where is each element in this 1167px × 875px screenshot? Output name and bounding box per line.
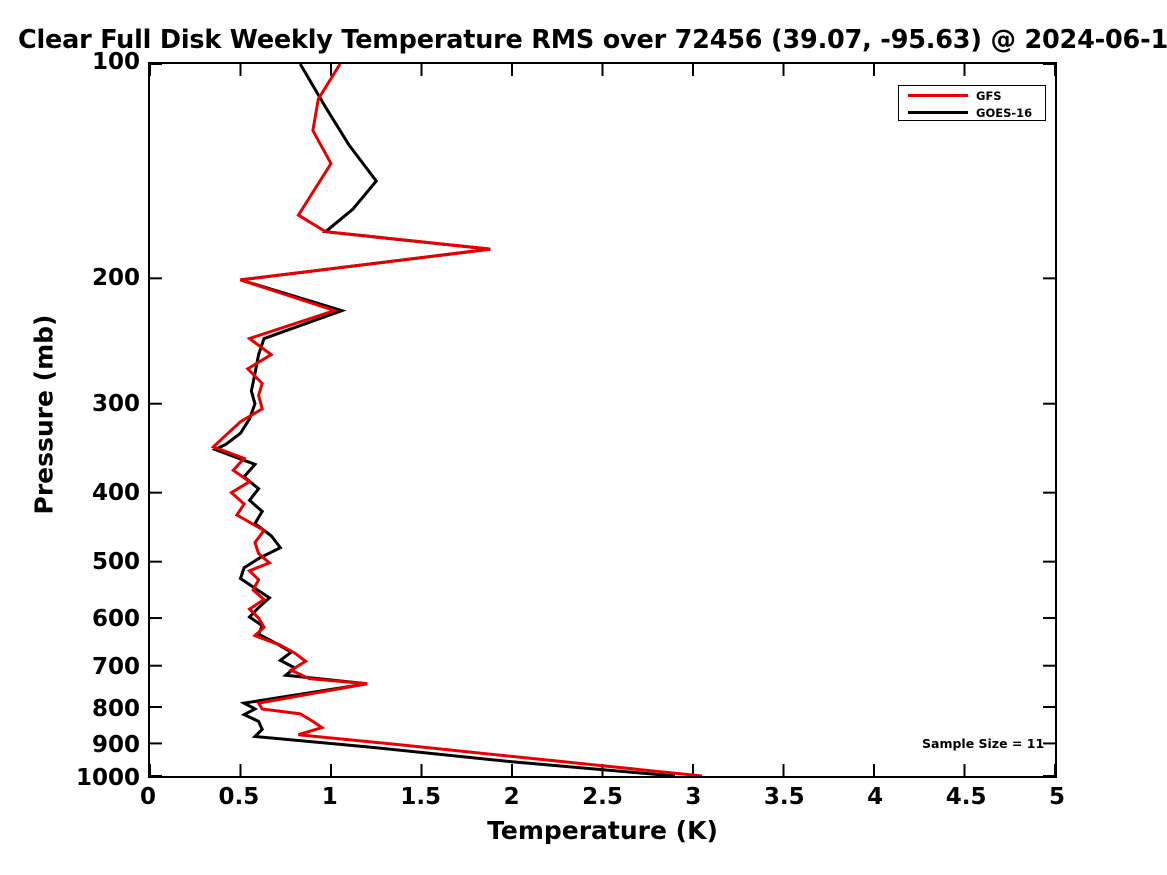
x-tick-label: 0 xyxy=(140,784,156,810)
legend-label: GFS xyxy=(976,89,1002,103)
x-axis-tick-labels: 00.511.522.533.544.55 xyxy=(148,784,1057,816)
y-tick-label: 600 xyxy=(92,606,140,632)
x-tick-label: 4 xyxy=(867,784,883,810)
data-series-lines xyxy=(213,64,702,776)
y-axis-tick-labels: 1002003004005006007008009001000 xyxy=(0,62,140,778)
legend-item: GOES-16 xyxy=(899,104,1045,121)
y-tick-label: 1000 xyxy=(76,765,140,791)
y-tick-label: 700 xyxy=(92,654,140,680)
x-axis-label: Temperature (K) xyxy=(148,816,1057,845)
y-axis-label: Pressure (mb) xyxy=(30,285,59,545)
chart-legend: GFSGOES-16 xyxy=(898,85,1046,121)
x-tick-label: 2 xyxy=(504,784,520,810)
axis-tick-marks xyxy=(150,64,1055,776)
y-tick-label: 400 xyxy=(92,480,140,506)
y-tick-label: 500 xyxy=(92,549,140,575)
chart-figure: Clear Full Disk Weekly Temperature RMS o… xyxy=(0,0,1167,875)
y-tick-label: 100 xyxy=(92,49,140,75)
y-tick-label: 300 xyxy=(92,391,140,417)
y-tick-label: 200 xyxy=(92,265,140,291)
x-tick-label: 1.5 xyxy=(400,784,441,810)
series-line-gfs xyxy=(213,64,702,776)
plot-svg xyxy=(150,64,1055,776)
sample-size-annotation: Sample Size = 11 xyxy=(922,736,1044,751)
plot-area xyxy=(148,62,1057,778)
chart-title: Clear Full Disk Weekly Temperature RMS o… xyxy=(18,25,1167,55)
x-tick-label: 1 xyxy=(322,784,338,810)
series-line-goes-16 xyxy=(215,64,675,776)
x-tick-label: 3 xyxy=(685,784,701,810)
y-tick-label: 800 xyxy=(92,696,140,722)
x-tick-label: 0.5 xyxy=(219,784,260,810)
legend-color-swatch xyxy=(908,94,968,98)
x-tick-label: 4.5 xyxy=(946,784,987,810)
legend-label: GOES-16 xyxy=(976,106,1032,120)
x-tick-label: 2.5 xyxy=(582,784,623,810)
x-tick-label: 5 xyxy=(1049,784,1065,810)
y-tick-label: 900 xyxy=(92,732,140,758)
x-tick-label: 3.5 xyxy=(764,784,805,810)
legend-color-swatch xyxy=(908,111,968,115)
legend-item: GFS xyxy=(899,87,1045,104)
